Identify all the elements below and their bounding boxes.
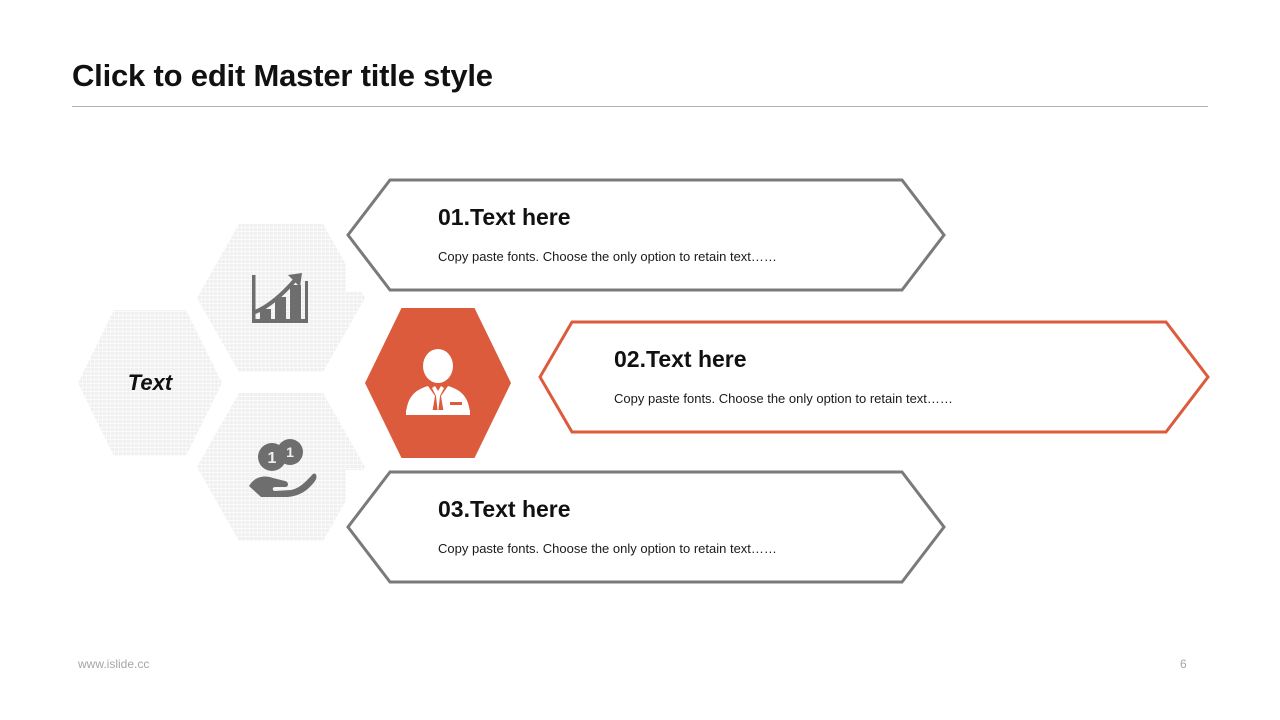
hexagon-businessman-active[interactable] (365, 308, 511, 458)
hexagon-hand-coins[interactable]: 1 1 (197, 393, 365, 541)
banner-1-heading: 01.Text here (438, 204, 571, 231)
hexagon-text-label[interactable]: Text (78, 310, 222, 456)
footer-url[interactable]: www.islide.cc (78, 657, 149, 671)
banner-2-heading: 02.Text here (614, 346, 747, 373)
svg-text:1: 1 (286, 444, 294, 460)
item-banner-3[interactable]: 03.Text here Copy paste fonts. Choose th… (346, 470, 946, 584)
page-title[interactable]: Click to edit Master title style (72, 56, 1212, 96)
banner-1-description: Copy paste fonts. Choose the only option… (438, 249, 777, 264)
banner-2-body: 02.Text here Copy paste fonts. Choose th… (538, 320, 1210, 434)
footer-page-number: 6 (1180, 657, 1220, 671)
title-divider (72, 106, 1208, 107)
bar-chart-growth-icon (248, 267, 314, 329)
hexagon-growth-chart-inner (197, 224, 365, 372)
hexagon-center-label: Text (128, 370, 172, 396)
businessman-icon (402, 348, 474, 418)
banner-1-body: 01.Text here Copy paste fonts. Choose th… (346, 178, 946, 292)
hexagon-text-inner: Text (78, 310, 222, 456)
item-banner-2[interactable]: 02.Text here Copy paste fonts. Choose th… (538, 320, 1210, 434)
banner-3-description: Copy paste fonts. Choose the only option… (438, 541, 777, 556)
banner-2-description: Copy paste fonts. Choose the only option… (614, 391, 953, 406)
hexagon-hand-coins-inner: 1 1 (197, 393, 365, 541)
banner-3-body: 03.Text here Copy paste fonts. Choose th… (346, 470, 946, 584)
hand-holding-coins-icon: 1 1 (245, 436, 317, 498)
banner-3-heading: 03.Text here (438, 496, 571, 523)
svg-text:1: 1 (268, 450, 277, 467)
hexagon-businessman-inner (365, 308, 511, 458)
item-banner-1[interactable]: 01.Text here Copy paste fonts. Choose th… (346, 178, 946, 292)
hexagon-growth-chart[interactable] (197, 224, 365, 372)
slide-canvas: Click to edit Master title style Text (0, 0, 1280, 720)
